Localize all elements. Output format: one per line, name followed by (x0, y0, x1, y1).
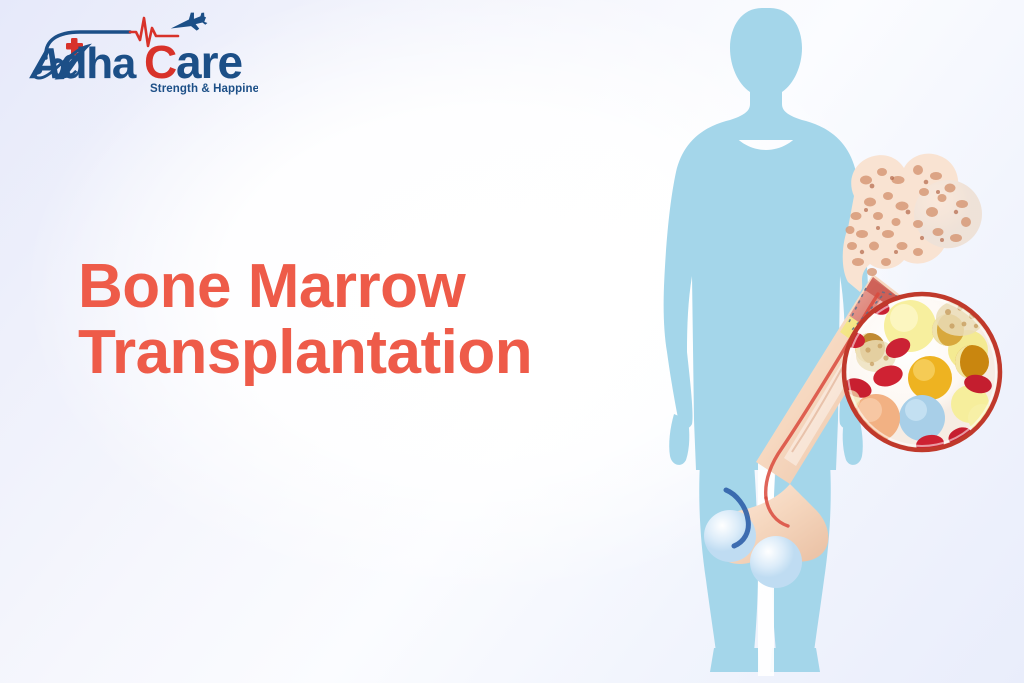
spongy-bone-head (843, 154, 982, 292)
page-title: Bone Marrow Transplantation (78, 254, 678, 385)
page-title-line-1: Bone Marrow (78, 254, 678, 320)
cartilage-cap-lateral (750, 536, 802, 588)
airplane-icon (168, 10, 209, 38)
logo-wordmark-c: C (144, 36, 176, 88)
bone-marrow-transplant-illustration (630, 0, 1024, 683)
logo-tagline: Strength & Happiness (150, 83, 258, 95)
poster-canvas: 𝓐 Adha C are Strength & Happiness Bone M… (0, 0, 1024, 683)
logo-wordmark-are: are (176, 36, 242, 88)
page-title-line-2: Transplantation (78, 320, 678, 386)
brand-logo[interactable]: 𝓐 Adha C are Strength & Happiness (18, 10, 258, 96)
logo-wordmark-adha: Adha (29, 39, 137, 88)
marrow-magnifier-circle (840, 294, 1000, 455)
